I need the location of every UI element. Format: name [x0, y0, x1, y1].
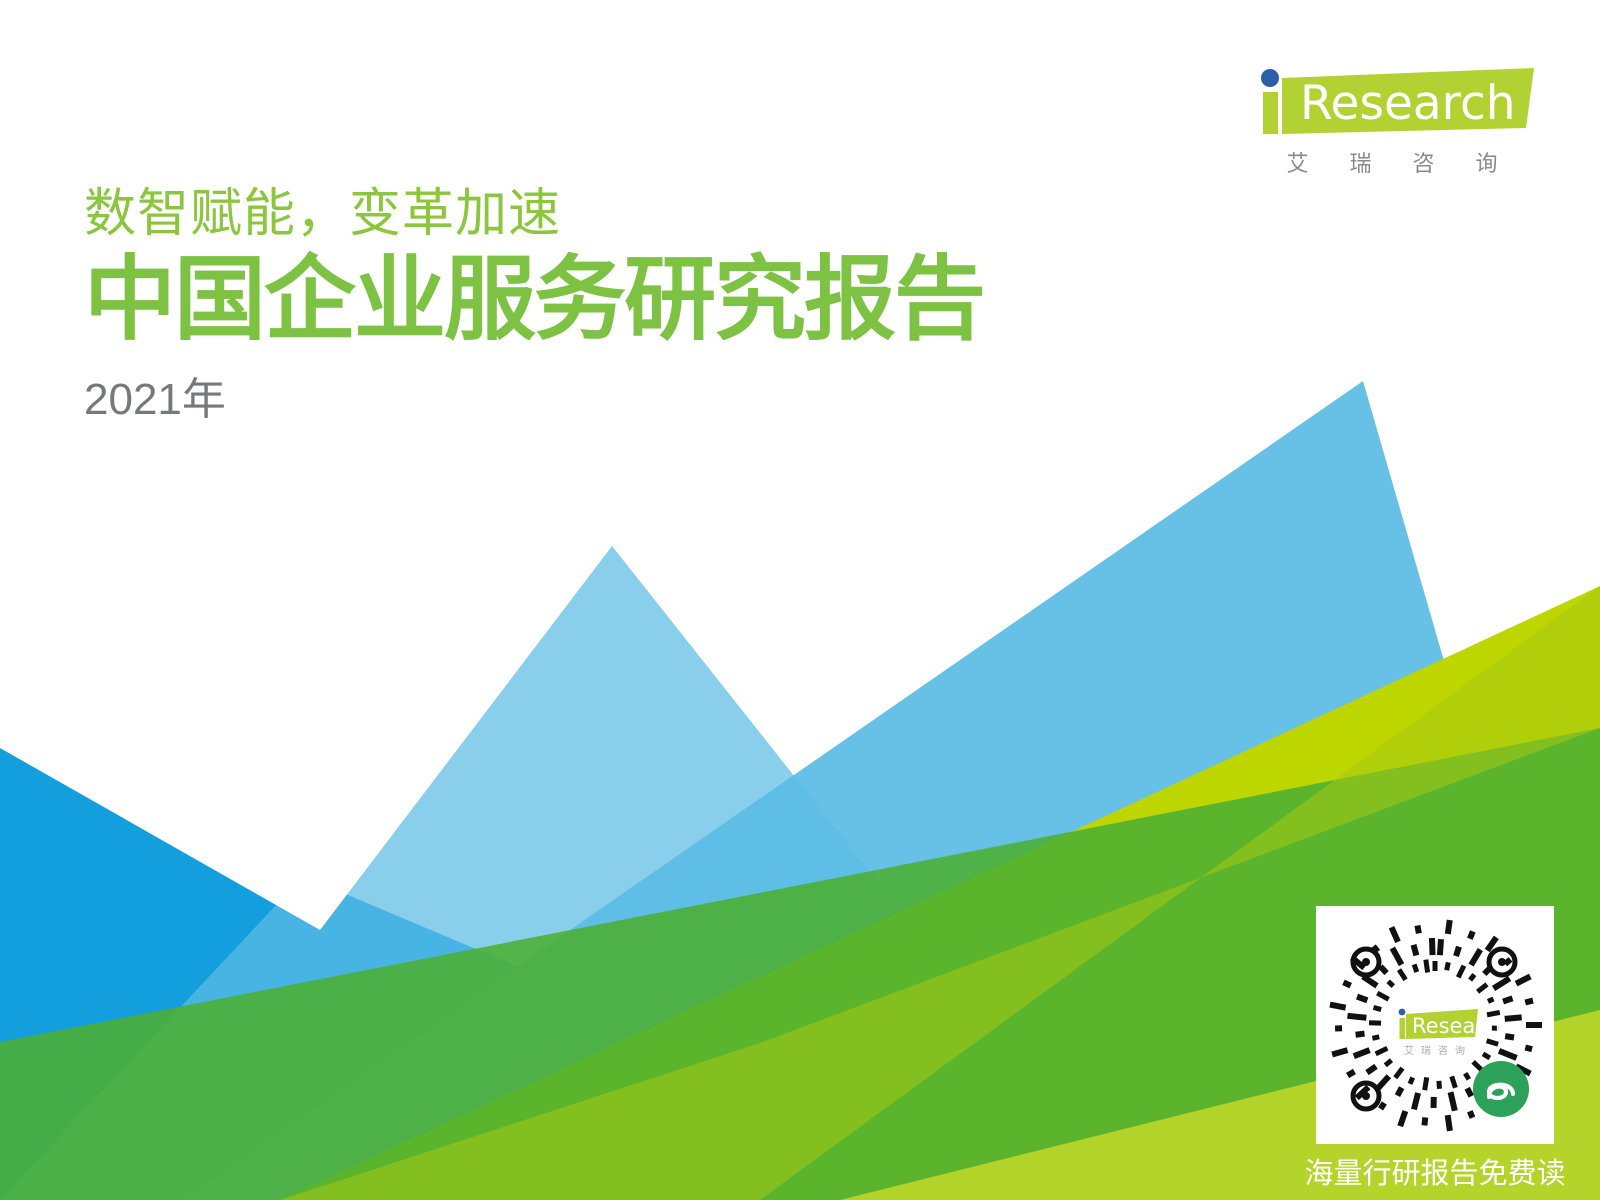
page-title: 中国企业服务研究报告: [84, 248, 984, 351]
wechat-qr-code[interactable]: Research 艾瑞咨询: [1316, 906, 1554, 1144]
title-group: 数智赋能，变革加速 中国企业服务研究报告 2021年: [84, 186, 984, 427]
logo-i-dot: [1261, 69, 1279, 87]
report-cover-page: Research 艾 瑞 咨 询 数智赋能，变革加速 中国企业服务研究报告 20…: [0, 0, 1600, 1200]
logo-chinese-name: 艾 瑞 咨 询: [1242, 146, 1542, 178]
qr-caption: 海量行研报告免费读: [1300, 1150, 1570, 1192]
report-subtitle: 数智赋能，变革加速: [84, 186, 984, 242]
logo-wordmark: Research: [1300, 76, 1516, 131]
wechat-miniprogram-icon: [1473, 1061, 1529, 1117]
qr-promo-block[interactable]: Research 艾瑞咨询 海量行研报告免费读: [1300, 906, 1570, 1192]
iresearch-logo-icon: Research: [1242, 62, 1542, 138]
logo-i-stem: [1263, 92, 1278, 134]
svg-text:艾瑞咨询: 艾瑞咨询: [1404, 1044, 1472, 1057]
report-year: 2021年: [84, 363, 984, 427]
iresearch-logo: Research 艾 瑞 咨 询: [1242, 62, 1542, 178]
svg-text:Research: Research: [1412, 1014, 1508, 1038]
